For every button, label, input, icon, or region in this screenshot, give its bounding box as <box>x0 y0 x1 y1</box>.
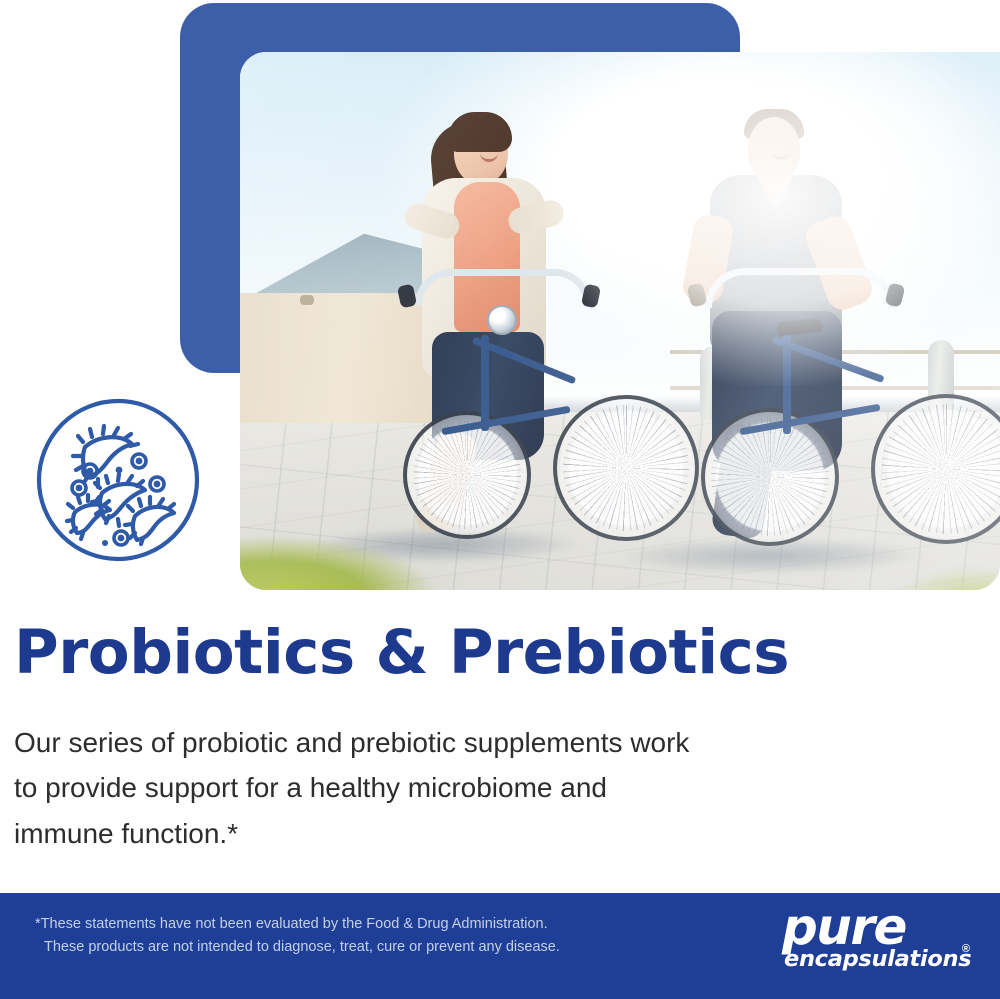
handlebar <box>415 269 591 305</box>
microbiome-icon-svg <box>36 398 200 562</box>
page-title: Probiotics & Prebiotics <box>14 617 789 688</box>
disclaimer-line: *These statements have not been evaluate… <box>35 913 560 936</box>
body-copy: Our series of probiotic and prebiotic su… <box>14 720 954 856</box>
hair-top <box>448 112 512 152</box>
body-line: to provide support for a healthy microbi… <box>14 765 954 810</box>
grass-left <box>240 522 445 590</box>
hero-photo <box>240 52 1000 590</box>
head <box>748 117 800 181</box>
body-line: immune function.* <box>14 811 954 856</box>
footer-bar: *These statements have not been evaluate… <box>0 893 1000 999</box>
microbe-shape <box>125 497 174 544</box>
registered-trademark-icon: ® <box>962 944 970 955</box>
photo-scene <box>240 52 1000 590</box>
body-line: Our series of probiotic and prebiotic su… <box>14 720 954 765</box>
wheel-front <box>871 394 1000 544</box>
fda-disclaimer: *These statements have not been evaluate… <box>35 913 560 960</box>
handlebar-grip <box>581 284 601 309</box>
logo-secondary-text: encapsulations <box>784 948 971 971</box>
wall-lamp <box>300 295 314 305</box>
logo-primary-text: pure <box>782 902 906 952</box>
bicycle-man <box>681 310 1000 590</box>
wheel-front <box>553 395 699 541</box>
grass-right <box>894 552 1000 590</box>
disclaimer-line: These products are not intended to diagn… <box>35 936 560 959</box>
microbiome-icon <box>36 398 200 562</box>
bicycle-bell <box>487 305 517 335</box>
handlebar <box>705 268 895 308</box>
pure-encapsulations-logo: pure encapsulations ® <box>776 904 972 980</box>
marketing-banner: Probiotics & Prebiotics Our series of pr… <box>0 0 1000 999</box>
bicycle-seat <box>776 318 823 337</box>
